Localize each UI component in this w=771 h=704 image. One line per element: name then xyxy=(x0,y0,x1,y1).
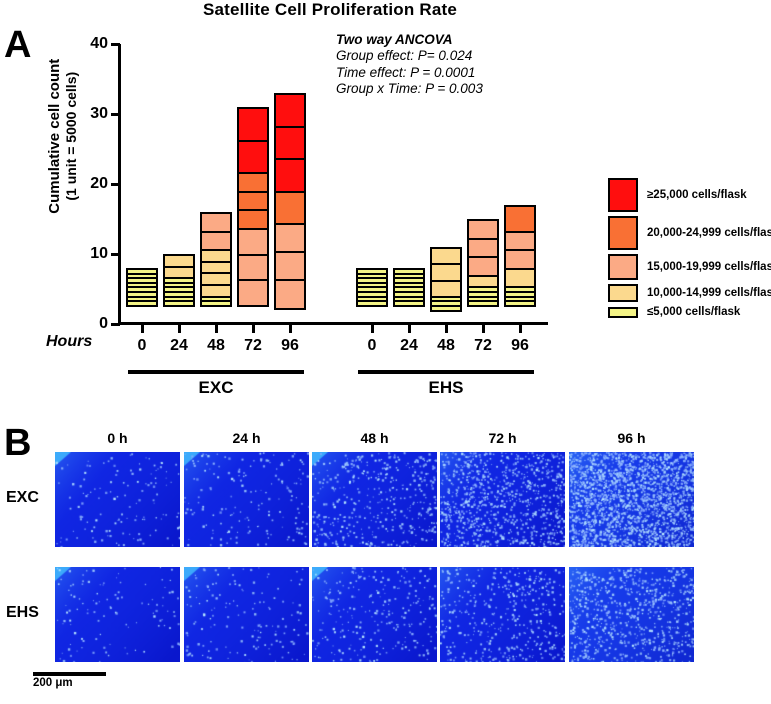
y-axis-label-line1: Cumulative cell count xyxy=(47,21,64,251)
legend-swatch-r20000 xyxy=(608,216,638,250)
hours-axis-label: Hours xyxy=(46,333,92,351)
micrograph-column-header-2: 48 h xyxy=(360,430,388,446)
scale-bar-line xyxy=(33,672,106,676)
x-tick-label-ehs-96: 96 xyxy=(511,337,529,355)
y-tick-label-10: 10 xyxy=(90,245,108,263)
bar-segment-r15000 xyxy=(237,228,269,256)
x-tick-exc-72 xyxy=(252,324,255,333)
bar-segment-ge25000 xyxy=(237,140,269,175)
x-tick-exc-96 xyxy=(289,324,292,333)
y-tick-label-20: 20 xyxy=(90,175,108,193)
x-tick-label-exc-48: 48 xyxy=(207,337,225,355)
y-tick-30 xyxy=(111,113,120,116)
legend-label-r15000: 15,000-19,999 cells/flask xyxy=(647,261,771,273)
micrograph-exc-72h[interactable] xyxy=(440,452,565,547)
group-label-ehs: EHS xyxy=(429,378,464,398)
y-tick-20 xyxy=(111,183,120,186)
micrograph-exc-96h[interactable] xyxy=(569,452,694,547)
legend-item-ge25000[interactable]: ≥25,000 cells/flask xyxy=(608,178,771,212)
legend-item-r15000[interactable]: 15,000-19,999 cells/flask xyxy=(608,254,771,280)
micrograph-column-header-0: 0 h xyxy=(107,430,127,446)
micrograph-exc-24h[interactable] xyxy=(184,452,309,547)
bar-segment-ge25000 xyxy=(274,93,306,128)
bar-exc-0h[interactable] xyxy=(126,268,158,324)
bar-segment-r15000 xyxy=(237,254,269,282)
micrograph-row-label-ehs: EHS xyxy=(6,604,39,622)
chart-legend: ≥25,000 cells/flask20,000-24,999 cells/f… xyxy=(608,178,771,322)
bar-segment-le5000 xyxy=(200,300,232,307)
micrograph-image xyxy=(312,567,437,662)
legend-swatch-le5000 xyxy=(608,307,638,318)
y-axis-label: Cumulative cell count (1 unit = 5000 cel… xyxy=(47,21,79,251)
micrograph-column-header-4: 96 h xyxy=(617,430,645,446)
bar-exc-48h[interactable] xyxy=(200,212,232,324)
micrograph-image xyxy=(184,452,309,547)
legend-label-le5000: ≤5,000 cells/flask xyxy=(647,306,740,318)
y-tick-label-0: 0 xyxy=(99,315,108,333)
bar-segment-le5000 xyxy=(163,300,195,307)
scale-bar-label: 200 μm xyxy=(33,677,106,689)
group-label-exc: EXC xyxy=(199,378,234,398)
group-underline-exc xyxy=(128,370,304,374)
micrograph-image xyxy=(569,567,694,662)
micrograph-image xyxy=(440,452,565,547)
bar-segment-ge25000 xyxy=(274,126,306,161)
x-tick-ehs-24 xyxy=(408,324,411,333)
x-tick-label-exc-72: 72 xyxy=(244,337,262,355)
bar-segment-r20000 xyxy=(504,205,536,233)
bar-exc-24h[interactable] xyxy=(163,254,195,324)
micrograph-image xyxy=(55,452,180,547)
x-tick-ehs-96 xyxy=(519,324,522,333)
bar-segment-le5000 xyxy=(126,300,158,307)
x-tick-label-exc-96: 96 xyxy=(281,337,299,355)
group-underline-ehs xyxy=(358,370,534,374)
bar-segment-le5000 xyxy=(504,300,536,307)
legend-label-r10000: 10,000-14,999 cells/flask xyxy=(647,287,771,299)
legend-item-r20000[interactable]: 20,000-24,999 cells/flask xyxy=(608,216,771,250)
bar-segment-r15000 xyxy=(237,279,269,307)
y-tick-40 xyxy=(111,43,120,46)
x-tick-label-exc-0: 0 xyxy=(138,337,147,355)
micrograph-image xyxy=(55,567,180,662)
bar-ehs-0h[interactable] xyxy=(356,268,388,324)
bar-segment-le5000 xyxy=(393,300,425,307)
bar-exc-96h[interactable] xyxy=(274,93,306,324)
micrograph-exc-0h[interactable] xyxy=(55,452,180,547)
bar-ehs-72h[interactable] xyxy=(467,219,499,324)
legend-swatch-r15000 xyxy=(608,254,638,280)
x-tick-ehs-72 xyxy=(482,324,485,333)
micrograph-column-header-3: 72 h xyxy=(488,430,516,446)
micrograph-ehs-0h[interactable] xyxy=(55,567,180,662)
x-tick-label-ehs-72: 72 xyxy=(474,337,492,355)
x-tick-label-ehs-48: 48 xyxy=(437,337,455,355)
y-axis-label-line2: (1 unit = 5000 cells) xyxy=(64,21,80,251)
panel-b-letter: B xyxy=(4,424,31,462)
micrograph-exc-48h[interactable] xyxy=(312,452,437,547)
micrograph-column-header-1: 24 h xyxy=(232,430,260,446)
legend-swatch-ge25000 xyxy=(608,178,638,212)
bar-exc-72h[interactable] xyxy=(237,107,269,324)
y-tick-label-30: 30 xyxy=(90,105,108,123)
chart-title: Satellite Cell Proliferation Rate xyxy=(120,0,540,20)
micrograph-ehs-48h[interactable] xyxy=(312,567,437,662)
bar-ehs-96h[interactable] xyxy=(504,205,536,324)
legend-label-r20000: 20,000-24,999 cells/flask xyxy=(647,227,771,239)
x-tick-ehs-0 xyxy=(371,324,374,333)
y-tick-0 xyxy=(111,323,120,326)
x-tick-label-ehs-0: 0 xyxy=(368,337,377,355)
x-tick-ehs-48 xyxy=(445,324,448,333)
micrograph-image xyxy=(312,452,437,547)
bar-segment-r20000 xyxy=(274,191,306,226)
micrograph-image xyxy=(184,567,309,662)
y-tick-label-40: 40 xyxy=(90,35,108,53)
bar-segment-ge25000 xyxy=(274,158,306,193)
micrograph-ehs-24h[interactable] xyxy=(184,567,309,662)
bar-segment-le5000 xyxy=(467,300,499,307)
legend-item-r10000[interactable]: 10,000-14,999 cells/flask xyxy=(608,284,771,302)
micrograph-ehs-96h[interactable] xyxy=(569,567,694,662)
bar-ehs-48h[interactable] xyxy=(430,247,462,324)
x-tick-label-exc-24: 24 xyxy=(170,337,188,355)
micrograph-ehs-72h[interactable] xyxy=(440,567,565,662)
bar-segment-r15000 xyxy=(274,223,306,253)
bar-ehs-24h[interactable] xyxy=(393,268,425,324)
bar-segment-r15000 xyxy=(274,251,306,281)
legend-swatch-r10000 xyxy=(608,284,638,302)
micrograph-row-label-exc: EXC xyxy=(6,489,39,507)
legend-item-le5000[interactable]: ≤5,000 cells/flask xyxy=(608,306,771,318)
micrograph-image xyxy=(569,452,694,547)
panel-a-letter: A xyxy=(4,26,31,64)
bar-segment-r15000 xyxy=(274,279,306,309)
x-tick-exc-24 xyxy=(178,324,181,333)
x-tick-exc-48 xyxy=(215,324,218,333)
scale-bar-group: 200 μm xyxy=(33,672,106,689)
bar-chart-plot-area: 010203040024487296024487296 xyxy=(120,44,545,324)
x-tick-label-ehs-24: 24 xyxy=(400,337,418,355)
bar-segment-ge25000 xyxy=(237,107,269,142)
bar-segment-le5000 xyxy=(356,300,388,307)
y-tick-10 xyxy=(111,253,120,256)
bar-segment-le5000 xyxy=(430,305,462,312)
micrograph-image xyxy=(440,567,565,662)
x-tick-exc-0 xyxy=(141,324,144,333)
legend-label-ge25000: ≥25,000 cells/flask xyxy=(647,189,747,201)
